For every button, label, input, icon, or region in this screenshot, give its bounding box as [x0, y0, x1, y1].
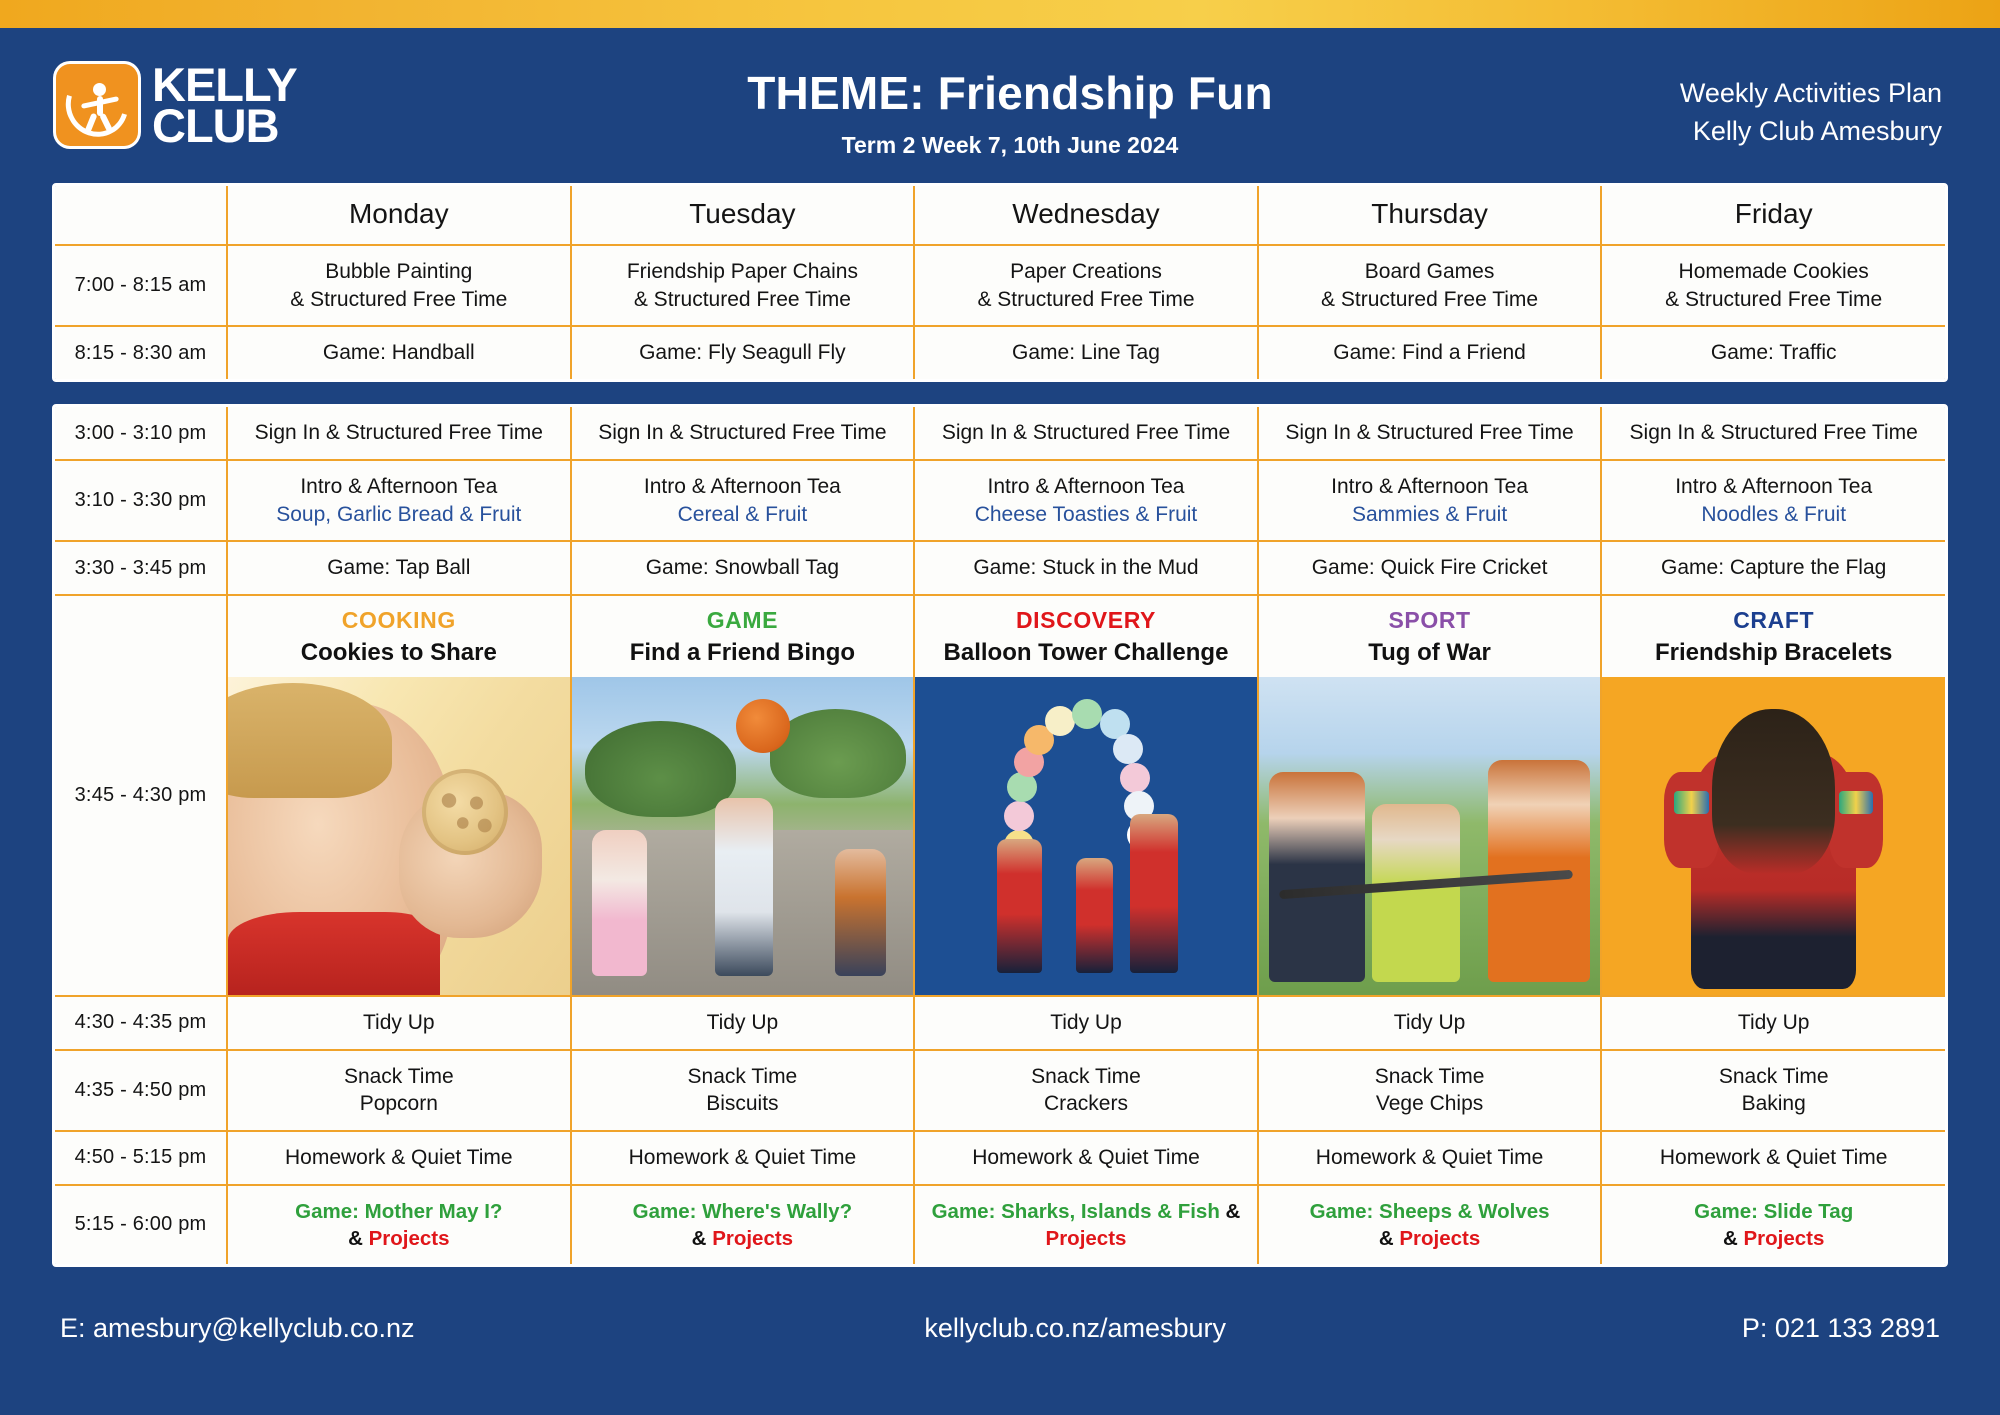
afternoon-tea-cell: Intro & Afternoon Tea Cheese Toasties & …	[914, 460, 1258, 541]
activity-cell-sport: SPORT Tug of War	[1258, 595, 1602, 996]
tidy-up-cell: Tidy Up	[1601, 996, 1945, 1050]
time-label: 3:00 - 3:10 pm	[55, 407, 227, 460]
activity-cell: Board Games & Structured Free Time	[1258, 245, 1602, 326]
activity-line-1: Board Games	[1267, 258, 1593, 286]
table-row-late-game: 5:15 - 6:00 pm Game: Mother May I? & Pro…	[55, 1185, 1945, 1264]
projects-label: Projects	[369, 1227, 450, 1250]
game-cell: Game: Quick Fire Cricket	[1258, 541, 1602, 595]
tea-food: Soup, Garlic Bread & Fruit	[236, 501, 562, 529]
activity-title: Friendship Bracelets	[1608, 639, 1939, 667]
day-header-monday: Monday	[227, 186, 571, 245]
sign-in-cell: Sign In & Structured Free Time	[914, 407, 1258, 460]
activity-line-2: & Structured Free Time	[580, 286, 906, 314]
activity-category: SPORT	[1265, 608, 1595, 633]
contact-website[interactable]: kellyclub.co.nz/amesbury	[737, 1313, 1414, 1344]
snack-cell: Snack Time Baking	[1601, 1050, 1945, 1131]
time-label: 4:30 - 4:35 pm	[55, 996, 227, 1050]
day-header-tuesday: Tuesday	[571, 186, 915, 245]
activity-title: Balloon Tower Challenge	[921, 639, 1251, 667]
snack-cell: Snack Time Popcorn	[227, 1050, 571, 1131]
children-balloon-tower-photo	[915, 677, 1257, 995]
activity-line-2: & Structured Free Time	[1610, 286, 1937, 314]
sign-in-cell: Sign In & Structured Free Time	[571, 407, 915, 460]
children-tug-of-war-photo	[1259, 677, 1601, 995]
time-label: 3:10 - 3:30 pm	[55, 460, 227, 541]
snack-cell: Snack Time Vege Chips	[1258, 1050, 1602, 1131]
time-label: 3:30 - 3:45 pm	[55, 541, 227, 595]
tidy-up-cell: Tidy Up	[227, 996, 571, 1050]
homework-cell: Homework & Quiet Time	[914, 1131, 1258, 1185]
game-cell: Game: Find a Friend	[1258, 326, 1602, 379]
contact-email[interactable]: E: amesbury@kellyclub.co.nz	[60, 1313, 737, 1344]
sign-in-cell: Sign In & Structured Free Time	[227, 407, 571, 460]
snack-label: Snack Time	[1610, 1063, 1937, 1091]
activity-title: Tug of War	[1265, 639, 1595, 667]
time-label: 8:15 - 8:30 am	[55, 326, 227, 379]
homework-cell: Homework & Quiet Time	[1258, 1131, 1602, 1185]
contact-phone[interactable]: P: 021 133 2891	[1414, 1313, 1940, 1344]
afternoon-tea-cell: Intro & Afternoon Tea Noodles & Fruit	[1601, 460, 1945, 541]
game-cell: Game: Traffic	[1601, 326, 1945, 379]
game-cell: Game: Stuck in the Mud	[914, 541, 1258, 595]
snack-food: Crackers	[923, 1090, 1249, 1118]
projects-label: Projects	[712, 1227, 793, 1250]
snack-cell: Snack Time Crackers	[914, 1050, 1258, 1131]
club-name: Kelly Club Amesbury	[1680, 112, 1942, 150]
snack-label: Snack Time	[923, 1063, 1249, 1091]
poster-header: KELLY CLUB THEME: Friendship Fun Term 2 …	[0, 28, 2000, 183]
activity-line-1: Homemade Cookies	[1610, 258, 1937, 286]
table-row-morning-game: 8:15 - 8:30 am Game: Handball Game: Fly …	[55, 326, 1945, 379]
game-cell: Game: Fly Seagull Fly	[571, 326, 915, 379]
tea-label: Intro & Afternoon Tea	[1267, 473, 1593, 501]
day-header-thursday: Thursday	[1258, 186, 1602, 245]
activity-category: DISCOVERY	[921, 608, 1251, 633]
poster-footer: E: amesbury@kellyclub.co.nz kellyclub.co…	[0, 1281, 2000, 1377]
activity-cell-game: GAME Find a Friend Bingo	[571, 595, 915, 996]
activity-category: CRAFT	[1608, 608, 1939, 633]
activity-category: COOKING	[234, 608, 564, 633]
late-game-cell: Game: Sheeps & Wolves & Projects	[1258, 1185, 1602, 1264]
tidy-up-cell: Tidy Up	[1258, 996, 1602, 1050]
game-name: Game: Sheeps & Wolves	[1310, 1200, 1550, 1223]
activity-line-2: & Structured Free Time	[236, 286, 562, 314]
time-label: 4:50 - 5:15 pm	[55, 1131, 227, 1185]
snack-food: Biscuits	[580, 1090, 906, 1118]
boy-holding-cookie-photo	[228, 677, 570, 995]
activity-cell: Friendship Paper Chains & Structured Fre…	[571, 245, 915, 326]
sign-in-cell: Sign In & Structured Free Time	[1258, 407, 1602, 460]
ampersand: &	[1226, 1200, 1241, 1223]
homework-cell: Homework & Quiet Time	[571, 1131, 915, 1185]
morning-schedule-table: Monday Tuesday Wednesday Thursday Friday…	[55, 186, 1945, 379]
late-game-cell: Game: Slide Tag & Projects	[1601, 1185, 1945, 1264]
snack-food: Popcorn	[236, 1090, 562, 1118]
time-label: 4:35 - 4:50 pm	[55, 1050, 227, 1131]
projects-label: Projects	[1743, 1227, 1824, 1250]
day-header-row: Monday Tuesday Wednesday Thursday Friday	[55, 186, 1945, 245]
homework-cell: Homework & Quiet Time	[227, 1131, 571, 1185]
table-row-sign-in: 3:00 - 3:10 pm Sign In & Structured Free…	[55, 407, 1945, 460]
snack-label: Snack Time	[580, 1063, 906, 1091]
activity-line-2: & Structured Free Time	[1267, 286, 1593, 314]
activity-cell: Homemade Cookies & Structured Free Time	[1601, 245, 1945, 326]
activity-title: Find a Friend Bingo	[578, 639, 908, 667]
tea-label: Intro & Afternoon Tea	[923, 473, 1249, 501]
snack-food: Vege Chips	[1267, 1090, 1593, 1118]
activity-line-1: Friendship Paper Chains	[580, 258, 906, 286]
afternoon-schedule-table: 3:00 - 3:10 pm Sign In & Structured Free…	[55, 407, 1945, 1264]
tea-label: Intro & Afternoon Tea	[1610, 473, 1937, 501]
table-row-tidy-up: 4:30 - 4:35 pm Tidy Up Tidy Up Tidy Up T…	[55, 996, 1945, 1050]
tea-food: Cheese Toasties & Fruit	[923, 501, 1249, 529]
game-name: Game: Sharks, Islands & Fish	[932, 1200, 1220, 1223]
poster-page: KELLY CLUB THEME: Friendship Fun Term 2 …	[0, 28, 2000, 1415]
snack-cell: Snack Time Biscuits	[571, 1050, 915, 1131]
snack-food: Baking	[1610, 1090, 1937, 1118]
tea-label: Intro & Afternoon Tea	[236, 473, 562, 501]
afternoon-schedule-block: 3:00 - 3:10 pm Sign In & Structured Free…	[52, 404, 1948, 1267]
afternoon-tea-cell: Intro & Afternoon Tea Sammies & Fruit	[1258, 460, 1602, 541]
tea-food: Cereal & Fruit	[580, 501, 906, 529]
activity-title: Cookies to Share	[234, 639, 564, 667]
afternoon-tea-cell: Intro & Afternoon Tea Soup, Garlic Bread…	[227, 460, 571, 541]
tidy-up-cell: Tidy Up	[571, 996, 915, 1050]
activity-line-1: Paper Creations	[923, 258, 1249, 286]
projects-label: Projects	[1399, 1227, 1480, 1250]
plan-identity: Weekly Activities Plan Kelly Club Amesbu…	[1680, 74, 1942, 151]
top-accent-bar	[0, 0, 2000, 28]
table-row-homework: 4:50 - 5:15 pm Homework & Quiet Time Hom…	[55, 1131, 1945, 1185]
time-label: 5:15 - 6:00 pm	[55, 1185, 227, 1264]
morning-schedule-block: Monday Tuesday Wednesday Thursday Friday…	[52, 183, 1948, 382]
ampersand: &	[1379, 1227, 1394, 1250]
table-row-afternoon-tea: 3:10 - 3:30 pm Intro & Afternoon Tea Sou…	[55, 460, 1945, 541]
activity-cell: Bubble Painting & Structured Free Time	[227, 245, 571, 326]
plan-title: Weekly Activities Plan	[1680, 74, 1942, 112]
game-cell: Game: Capture the Flag	[1601, 541, 1945, 595]
activity-cell-discovery: DISCOVERY Balloon Tower Challenge	[914, 595, 1258, 996]
late-game-cell: Game: Mother May I? & Projects	[227, 1185, 571, 1264]
snack-label: Snack Time	[1267, 1063, 1593, 1091]
game-name: Game: Where's Wally?	[633, 1200, 852, 1223]
activity-category: GAME	[578, 608, 908, 633]
sign-in-cell: Sign In & Structured Free Time	[1601, 407, 1945, 460]
ampersand: &	[1723, 1227, 1738, 1250]
game-name: Game: Slide Tag	[1694, 1200, 1853, 1223]
time-label: 3:45 - 4:30 pm	[55, 595, 227, 996]
homework-cell: Homework & Quiet Time	[1601, 1131, 1945, 1185]
table-corner	[55, 186, 227, 245]
tea-food: Sammies & Fruit	[1267, 501, 1593, 529]
time-label: 7:00 - 8:15 am	[55, 245, 227, 326]
girl-with-bracelets-photo	[1602, 677, 1945, 995]
activity-cell-cooking: COOKING Cookies to Share	[227, 595, 571, 996]
tidy-up-cell: Tidy Up	[914, 996, 1258, 1050]
table-row-early-morning: 7:00 - 8:15 am Bubble Painting & Structu…	[55, 245, 1945, 326]
game-name: Game: Mother May I?	[295, 1200, 502, 1223]
table-row-main-activity: 3:45 - 4:30 pm COOKING Cookies to Share	[55, 595, 1945, 996]
day-header-wednesday: Wednesday	[914, 186, 1258, 245]
children-playing-basketball-photo	[572, 677, 914, 995]
game-cell: Game: Line Tag	[914, 326, 1258, 379]
activity-line-1: Bubble Painting	[236, 258, 562, 286]
late-game-cell: Game: Sharks, Islands & Fish & Projects	[914, 1185, 1258, 1264]
snack-label: Snack Time	[236, 1063, 562, 1091]
game-cell: Game: Tap Ball	[227, 541, 571, 595]
ampersand: &	[348, 1227, 363, 1250]
ampersand: &	[692, 1227, 707, 1250]
game-cell: Game: Snowball Tag	[571, 541, 915, 595]
tea-label: Intro & Afternoon Tea	[580, 473, 906, 501]
late-game-cell: Game: Where's Wally? & Projects	[571, 1185, 915, 1264]
afternoon-tea-cell: Intro & Afternoon Tea Cereal & Fruit	[571, 460, 915, 541]
game-cell: Game: Handball	[227, 326, 571, 379]
table-row-early-game: 3:30 - 3:45 pm Game: Tap Ball Game: Snow…	[55, 541, 1945, 595]
table-row-snack-time: 4:35 - 4:50 pm Snack Time Popcorn Snack …	[55, 1050, 1945, 1131]
activity-cell-craft: CRAFT Friendship Bracelets	[1601, 595, 1945, 996]
tea-food: Noodles & Fruit	[1610, 501, 1937, 529]
day-header-friday: Friday	[1601, 186, 1945, 245]
activity-cell: Paper Creations & Structured Free Time	[914, 245, 1258, 326]
projects-label: Projects	[1046, 1227, 1127, 1250]
activity-line-2: & Structured Free Time	[923, 286, 1249, 314]
